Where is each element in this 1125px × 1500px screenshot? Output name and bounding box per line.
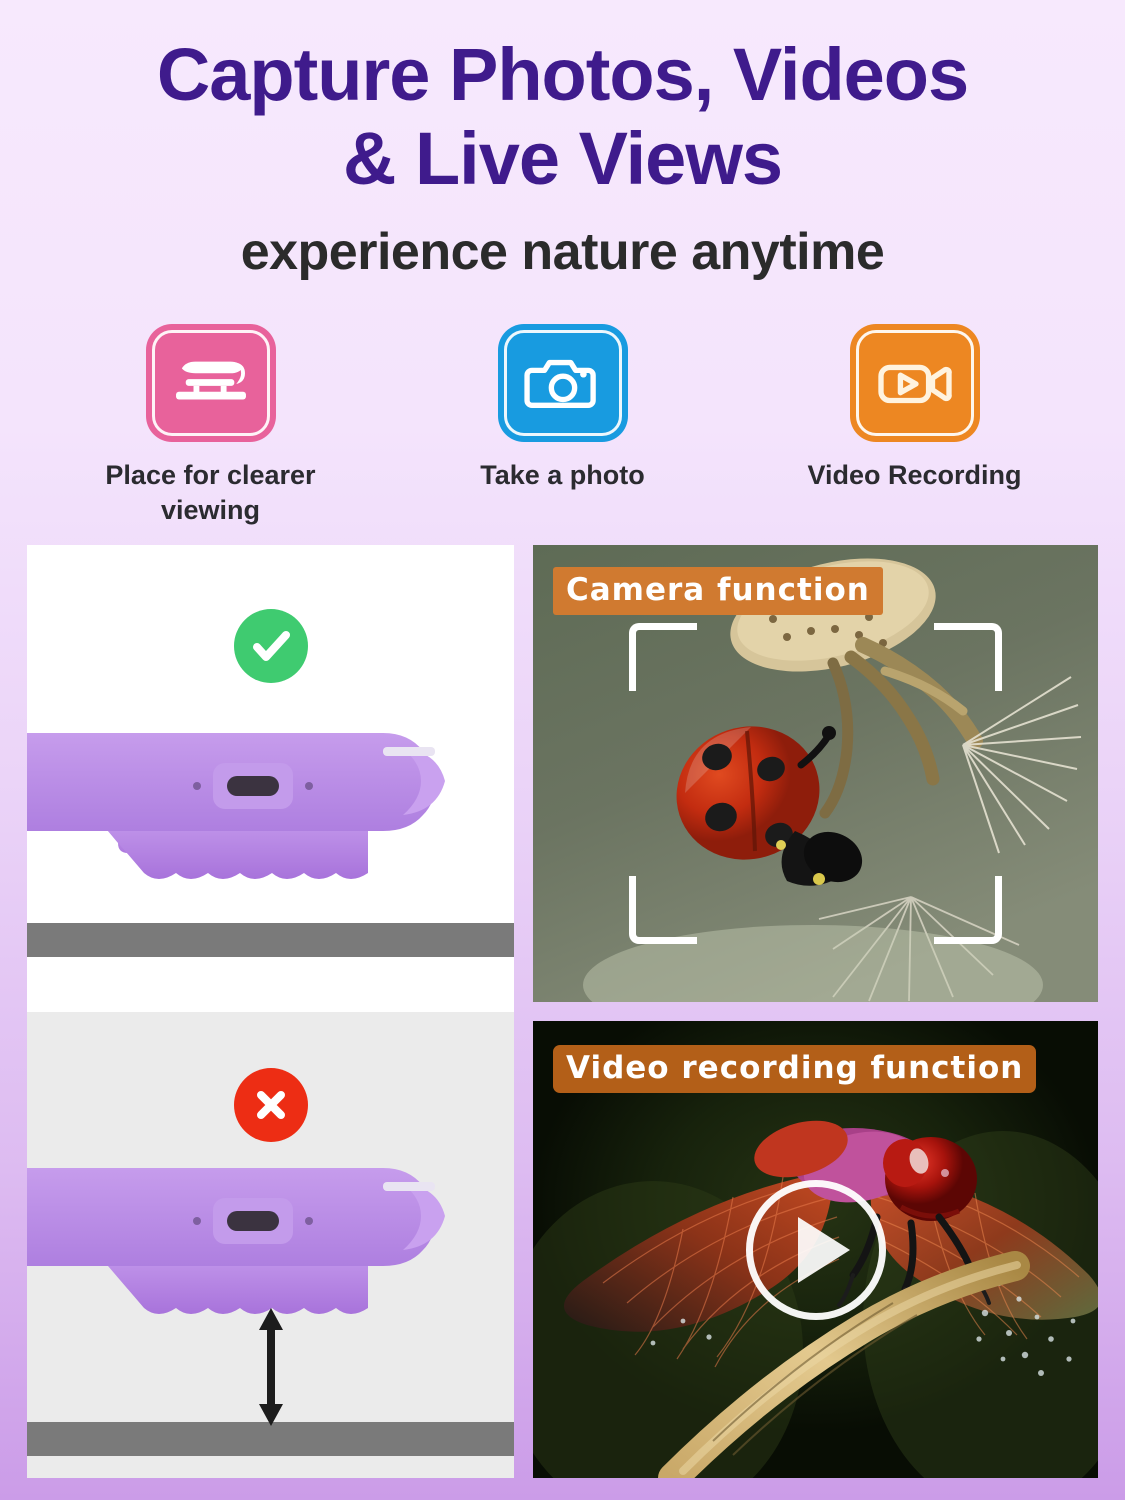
header: Capture Photos, Videos & Live Views expe… [0, 0, 1125, 282]
gap-distance-arrow [253, 1304, 289, 1430]
focus-bracket-top-left [629, 623, 697, 691]
feature-item-photo[interactable]: Take a photo [443, 324, 683, 493]
content-grid: Camera function [27, 545, 1098, 1478]
feature-label: Take a photo [443, 458, 683, 493]
camera-function-badge: Camera function [553, 567, 883, 615]
title-line-2: & Live Views [0, 122, 1125, 196]
surface-bar-correct [27, 923, 514, 957]
placement-column [27, 545, 514, 1478]
camera-icon [498, 324, 628, 442]
focus-bracket-top-right [934, 623, 1002, 691]
feature-item-video[interactable]: Video Recording [795, 324, 1035, 493]
feature-label: Place for clearer viewing [91, 458, 331, 527]
title-line-1: Capture Photos, Videos [157, 33, 968, 116]
play-button[interactable] [746, 1180, 886, 1320]
play-triangle-icon [798, 1217, 850, 1283]
video-camera-icon [850, 324, 980, 442]
feature-item-place[interactable]: Place for clearer viewing [91, 324, 331, 527]
red-x-icon [234, 1068, 308, 1142]
focus-bracket-bottom-right [934, 876, 1002, 944]
photo-camera-function[interactable]: Camera function [533, 545, 1098, 1002]
green-check-icon [234, 609, 308, 683]
photo-video-function[interactable]: Video recording function [533, 1021, 1098, 1478]
placement-correct-panel [27, 545, 514, 1012]
feature-list: Place for clearer viewing Take a photo [0, 324, 1125, 527]
page-subtitle: experience nature anytime [0, 222, 1125, 282]
focus-bracket-bottom-left [629, 876, 697, 944]
video-function-badge: Video recording function [553, 1045, 1036, 1093]
device-illustration-correct [27, 725, 513, 945]
feature-label: Video Recording [795, 458, 1035, 493]
device-on-surface-icon [146, 324, 276, 442]
photo-column: Camera function [533, 545, 1098, 1478]
page-title: Capture Photos, Videos & Live Views [0, 38, 1125, 196]
placement-incorrect-panel [27, 1012, 514, 1479]
